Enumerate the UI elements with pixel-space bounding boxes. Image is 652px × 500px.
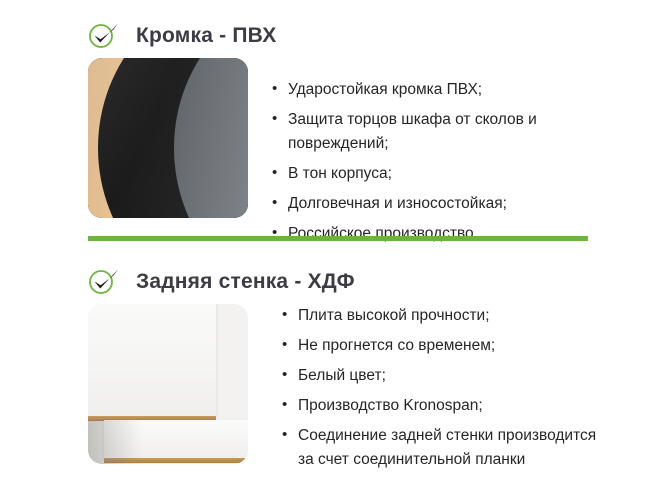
section-heading-edge: Кромка - ПВХ <box>88 18 276 52</box>
section-edge-banding: Кромка - ПВХ Ударостойкая кромка ПВХ; За… <box>0 0 652 232</box>
hdf-panel-middle <box>104 420 248 458</box>
section-title: Задняя стенка - ХДФ <box>136 271 355 292</box>
list-item: Не прогнется со временем; <box>282 334 612 358</box>
hdf-back-panel-photo <box>88 304 248 464</box>
list-item: Плита высокой прочности; <box>282 304 612 328</box>
page-root: Кромка - ПВХ Ударостойкая кромка ПВХ; За… <box>0 0 652 500</box>
feature-list-edge: Ударостойкая кромка ПВХ; Защита торцов ш… <box>272 78 602 252</box>
check-circle-icon <box>88 20 122 50</box>
check-circle-icon <box>88 266 122 296</box>
feature-list-back: Плита высокой прочности; Не прогнется со… <box>282 304 612 478</box>
list-item: Долговечная и износостойкая; <box>272 192 602 216</box>
list-item: Ударостойкая кромка ПВХ; <box>272 78 602 102</box>
section-back-panel: Задняя стенка - ХДФ Плита высокой прочно… <box>0 246 652 500</box>
list-item: Защита торцов шкафа от сколов и поврежде… <box>272 108 602 155</box>
hdf-panel-top <box>88 304 216 416</box>
list-item: Производство Kronospan; <box>282 394 612 418</box>
list-item: Российское производство <box>272 222 602 246</box>
section-title: Кромка - ПВХ <box>136 25 276 46</box>
list-item: Белый цвет; <box>282 364 612 388</box>
list-item: В тон корпуса; <box>272 162 602 186</box>
section-heading-back: Задняя стенка - ХДФ <box>88 264 355 298</box>
pvc-edge-banding-photo <box>88 58 248 218</box>
green-divider <box>88 236 588 241</box>
list-item: Соединение задней стенки производится за… <box>282 424 612 471</box>
